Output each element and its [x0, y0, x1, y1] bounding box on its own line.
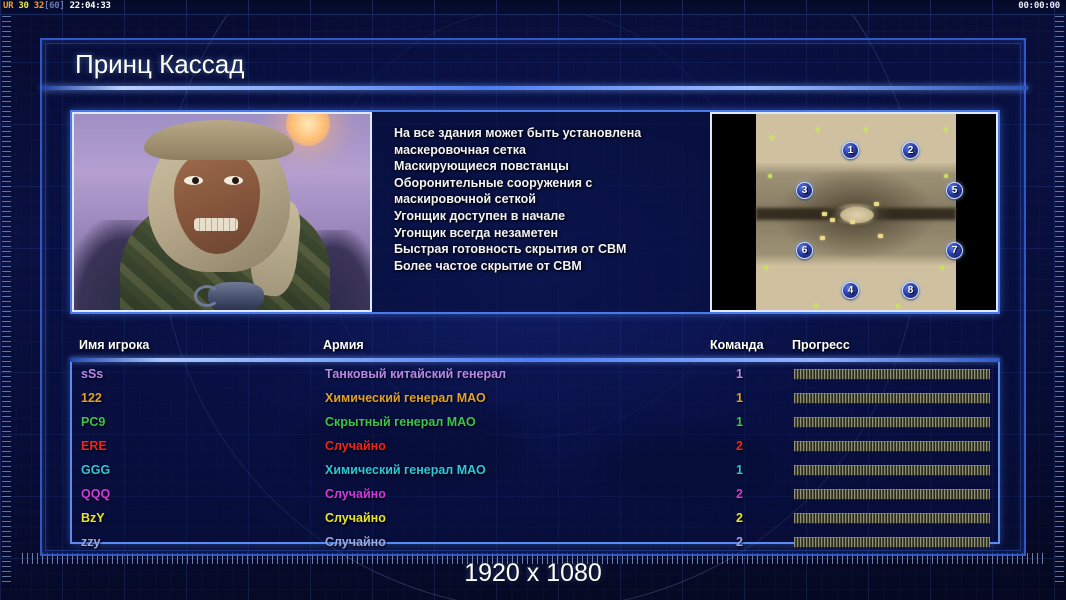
map-resource-oil [850, 220, 855, 224]
fps-bracket: [60] [44, 1, 64, 11]
title-underline [42, 86, 1028, 90]
description-line: Угонщик доступен в начале [394, 208, 704, 225]
player-army: Случайно [325, 535, 386, 549]
table-row[interactable]: zzyСлучайно2 [72, 530, 998, 554]
column-header-team: Команда [710, 338, 764, 352]
table-row[interactable]: GGGХимический генерал МАО1 [72, 458, 998, 482]
map-resource-gem [814, 304, 818, 308]
map-spawn-slot-2[interactable]: 2 [902, 142, 919, 159]
column-header-army: Армия [323, 338, 364, 352]
player-progress-bar [794, 417, 990, 428]
player-progress-bar [794, 393, 990, 404]
map-resource-gem [940, 266, 944, 270]
player-army: Случайно [325, 487, 386, 501]
player-progress-bar [794, 369, 990, 380]
map-resource-gem [764, 266, 768, 270]
player-name: sSs [81, 367, 103, 381]
player-name: BzY [81, 511, 105, 525]
table-row[interactable]: QQQСлучайно2 [72, 482, 998, 506]
fps-label: UR [3, 1, 13, 11]
player-army: Химический генерал МАО [325, 463, 486, 477]
top-status-bar: UR 30 32[60] 22:04:33 00:00:00 [0, 0, 1066, 15]
page-title: Принц Кассад [75, 49, 244, 80]
player-team: 2 [736, 535, 743, 549]
general-portrait [72, 112, 372, 312]
map-resource-gem [944, 128, 948, 132]
player-progress-bar [794, 441, 990, 452]
player-army: Случайно [325, 439, 386, 453]
map-resource-gem [816, 128, 820, 132]
player-progress-bar [794, 465, 990, 476]
player-name: PC9 [81, 415, 105, 429]
description-line: маскировочной сеткой [394, 191, 704, 208]
clock-display: 00:00:00 [1018, 1, 1060, 11]
description-line: Более частое скрытие от СВМ [394, 258, 704, 275]
sun-decoration [286, 112, 330, 146]
ruler-right [1055, 16, 1064, 584]
player-team: 2 [736, 511, 743, 525]
fps-value: 30 [18, 1, 28, 11]
player-progress-bar [794, 537, 990, 548]
player-team: 1 [736, 463, 743, 477]
map-spawn-slot-8[interactable]: 8 [902, 282, 919, 299]
player-army: Химический генерал МАО [325, 391, 486, 405]
portrait-teeth [194, 218, 238, 231]
general-info-row: На все здания может быть установлена мас… [70, 110, 1000, 314]
map-resource-gem [864, 128, 868, 132]
map-resource-oil [820, 236, 825, 240]
table-row[interactable]: sSsТанковый китайский генерал1 [72, 362, 998, 386]
player-team: 2 [736, 439, 743, 453]
player-progress-bar [794, 489, 990, 500]
table-row[interactable]: PC9Скрытный генерал МАО1 [72, 410, 998, 434]
map-preview[interactable]: 12356748 [710, 112, 998, 312]
player-army: Случайно [325, 511, 386, 525]
player-name: zzy [81, 535, 100, 549]
description-line: Угонщик всегда незаметен [394, 225, 704, 242]
main-panel: Принц Кассад На все здания может быть [40, 38, 1026, 556]
map-resource-oil [878, 234, 883, 238]
player-table-header: Имя игрока Армия Команда Прогресс [70, 336, 1000, 358]
player-name: GGG [81, 463, 110, 477]
player-army: Танковый китайский генерал [325, 367, 506, 381]
map-resource-oil [874, 202, 879, 206]
portrait-eye-right [224, 176, 243, 185]
general-description: На все здания может быть установлена мас… [372, 112, 710, 312]
player-team: 2 [736, 487, 743, 501]
fps-value-2: 32 [34, 1, 44, 11]
portrait-headband [144, 120, 294, 160]
map-center-area [840, 207, 874, 223]
player-team: 1 [736, 391, 743, 405]
game-lobby-screen: UR 30 32[60] 22:04:33 00:00:00 Принц Кас… [0, 0, 1066, 600]
player-team: 1 [736, 367, 743, 381]
map-spawn-slot-1[interactable]: 1 [842, 142, 859, 159]
map-spawn-slot-7[interactable]: 7 [946, 242, 963, 259]
player-table: sSsТанковый китайский генерал1122Химичес… [70, 362, 1000, 544]
description-line: маскеровочная сетка [394, 142, 704, 159]
fps-counter: UR 30 32[60] 22:04:33 [3, 1, 111, 11]
description-line: На все здания может быть установлена [394, 125, 704, 142]
map-spawn-slot-6[interactable]: 6 [796, 242, 813, 259]
table-row[interactable]: 122Химический генерал МАО1 [72, 386, 998, 410]
player-army: Скрытный генерал МАО [325, 415, 476, 429]
map-resource-gem [944, 174, 948, 178]
session-timer: 22:04:33 [70, 1, 111, 11]
ruler-left [2, 16, 11, 584]
portrait-eye-left [184, 176, 203, 185]
map-resource-oil [822, 212, 827, 216]
player-name: 122 [81, 391, 102, 405]
map-resource-gem [768, 174, 772, 178]
player-name: ERE [81, 439, 107, 453]
map-spawn-slot-4[interactable]: 4 [842, 282, 859, 299]
title-bar: Принц Кассад [42, 40, 1028, 90]
description-line: Быстрая готовность скрытия от СВМ [394, 241, 704, 258]
map-spawn-slot-3[interactable]: 3 [796, 182, 813, 199]
table-row[interactable]: EREСлучайно2 [72, 434, 998, 458]
player-progress-bar [794, 513, 990, 524]
player-team: 1 [736, 415, 743, 429]
column-header-player-name: Имя игрока [79, 338, 149, 352]
teapot-icon [208, 282, 264, 312]
map-spawn-slot-5[interactable]: 5 [946, 182, 963, 199]
column-header-progress: Прогресс [792, 338, 850, 352]
top-bar-grid [0, 0, 1066, 14]
map-resource-gem [896, 304, 900, 308]
resolution-overlay: 1920 x 1080 [0, 559, 1066, 588]
table-row[interactable]: BzYСлучайно2 [72, 506, 998, 530]
player-rows: sSsТанковый китайский генерал1122Химичес… [72, 362, 998, 554]
description-line: Маскирующиеся повстанцы [394, 158, 704, 175]
map-resource-gem [770, 136, 774, 140]
description-line: Оборонительные сооружения с [394, 175, 704, 192]
player-name: QQQ [81, 487, 110, 501]
map-resource-oil [830, 218, 835, 222]
